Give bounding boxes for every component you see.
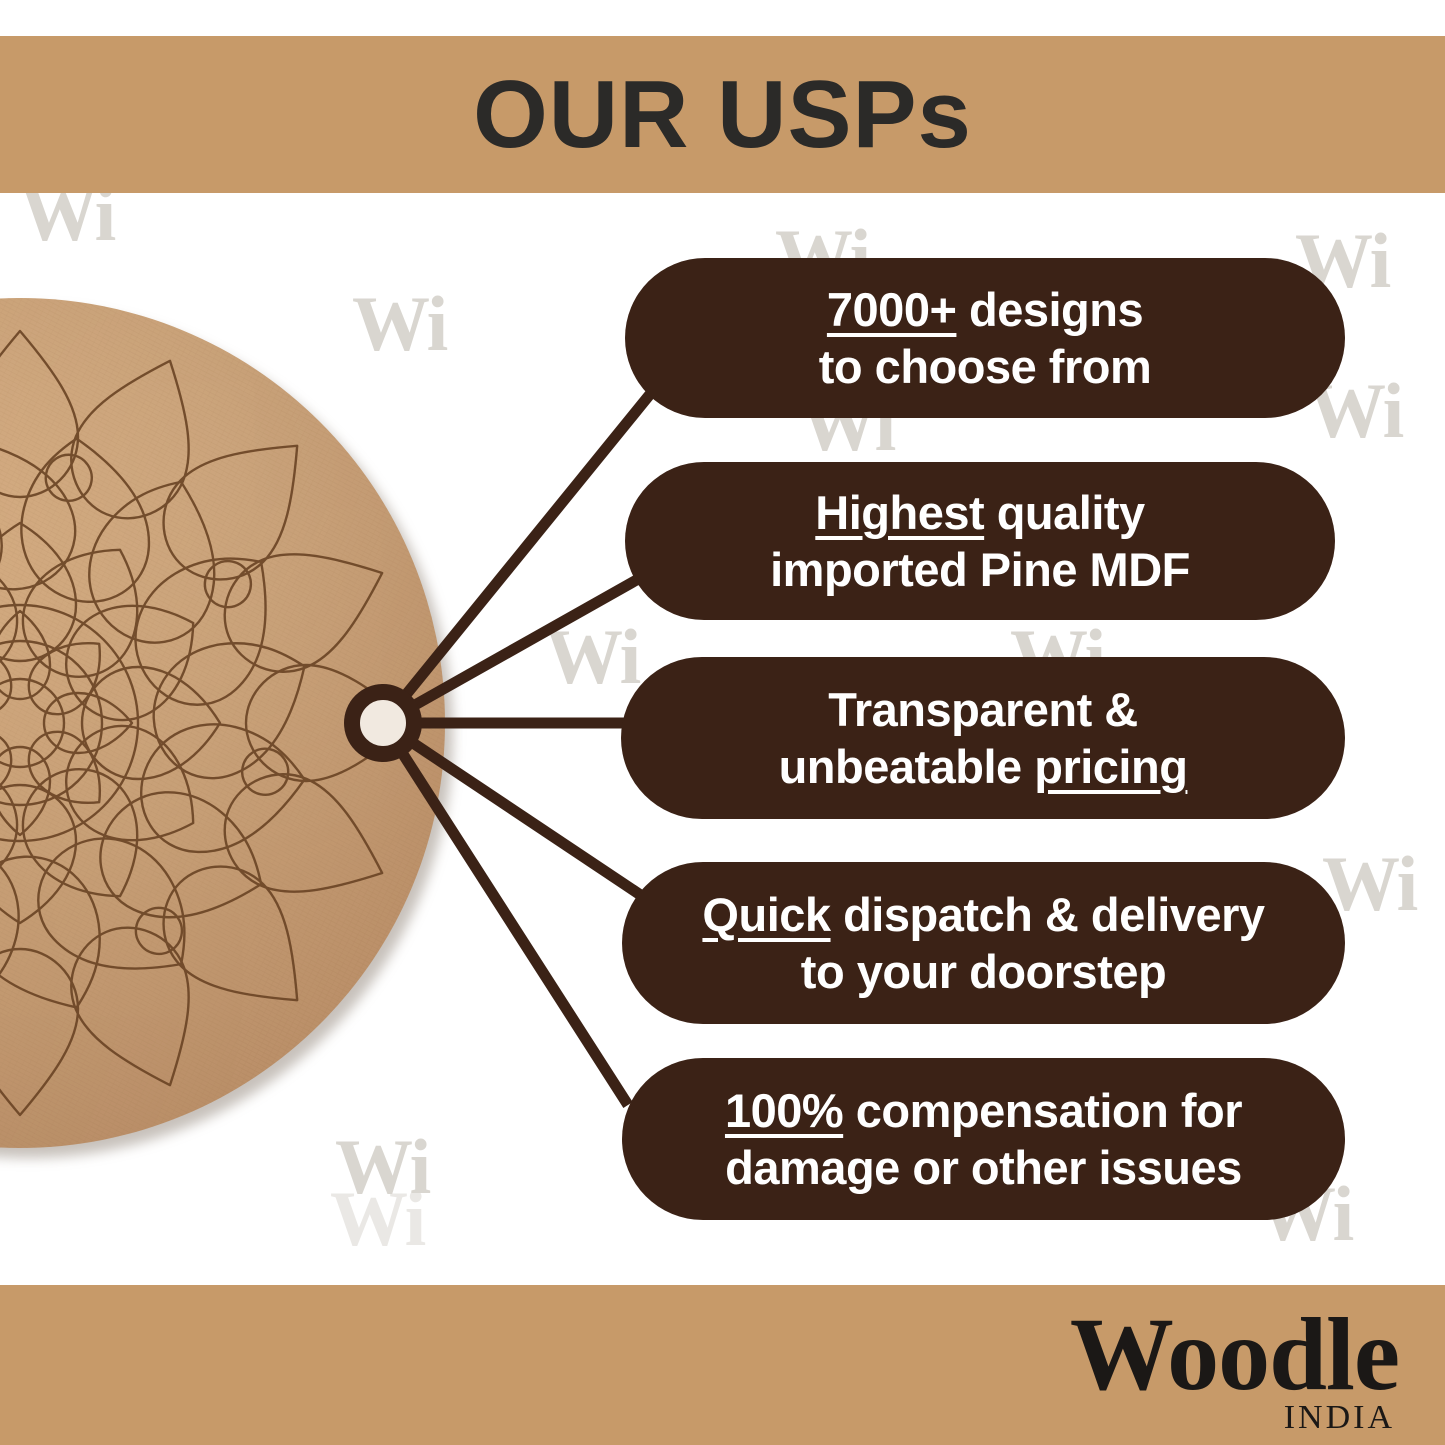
- disc-face: [0, 298, 445, 1148]
- usp-line-2-rest: unbeatable: [779, 740, 1035, 793]
- usp-pill-pricing[interactable]: Transparent & unbeatable pricing: [621, 657, 1345, 819]
- usp-underlined-keyword: Quick: [702, 888, 830, 941]
- page-title: OUR USPs: [0, 36, 1445, 193]
- watermark-mark: Wi: [545, 618, 639, 696]
- usp-text-designs: 7000+ designs to choose from: [793, 281, 1177, 396]
- mandala-engraving: [0, 298, 445, 1148]
- usp-underlined-keyword: pricing: [1034, 740, 1187, 793]
- usp-line-2: imported Pine MDF: [770, 543, 1190, 596]
- usp-line-1: Highest quality: [815, 486, 1144, 539]
- usp-line-1: Quick dispatch & delivery: [702, 888, 1264, 941]
- mdf-mandala-disc: [0, 298, 445, 1148]
- usp-line-1: Transparent &: [828, 683, 1138, 736]
- usp-pill-designs[interactable]: 7000+ designs to choose from: [625, 258, 1345, 418]
- brand-logo: Woodle INDIA: [979, 1303, 1399, 1433]
- brand-logo-wordmark: Woodle: [1070, 1303, 1399, 1407]
- usp-text-dispatch: Quick dispatch & delivery to your doorst…: [676, 886, 1290, 1001]
- usp-underlined-keyword: Highest: [815, 486, 984, 539]
- usp-underlined-keyword: 7000+: [827, 283, 957, 336]
- usp-pill-quality[interactable]: Highest quality imported Pine MDF: [625, 462, 1335, 620]
- watermark-mark: Wi: [330, 1180, 424, 1258]
- usp-pill-compensation[interactable]: 100% compensation for damage or other is…: [622, 1058, 1345, 1220]
- footer-band: Woodle INDIA: [0, 1285, 1445, 1445]
- usp-line-1: 100% compensation for: [725, 1084, 1242, 1137]
- usp-line-1-rest: dispatch & delivery: [831, 888, 1265, 941]
- usp-line-1-rest: designs: [956, 283, 1143, 336]
- usp-line-2: to your doorstep: [801, 945, 1166, 998]
- usp-pill-dispatch[interactable]: Quick dispatch & delivery to your doorst…: [622, 862, 1345, 1024]
- usp-line-2: damage or other issues: [725, 1141, 1242, 1194]
- usp-line-1-rest: quality: [984, 486, 1145, 539]
- infographic-canvas: Wi Wi Wi Wi Wi Wi Wi Wi Wi Wi Wi Wi: [0, 0, 1445, 1445]
- usp-underlined-keyword: 100%: [725, 1084, 843, 1137]
- brand-logo-subtitle: INDIA: [1284, 1399, 1395, 1437]
- header-band: OUR USPs: [0, 36, 1445, 193]
- usp-line-2: unbeatable pricing: [779, 740, 1188, 793]
- usp-line-1: 7000+ designs: [827, 283, 1143, 336]
- usp-line-1-rest: compensation for: [843, 1084, 1242, 1137]
- usp-text-pricing: Transparent & unbeatable pricing: [753, 681, 1214, 796]
- usp-line-2: to choose from: [819, 340, 1151, 393]
- usp-text-compensation: 100% compensation for damage or other is…: [699, 1082, 1268, 1197]
- usp-text-quality: Highest quality imported Pine MDF: [744, 484, 1216, 599]
